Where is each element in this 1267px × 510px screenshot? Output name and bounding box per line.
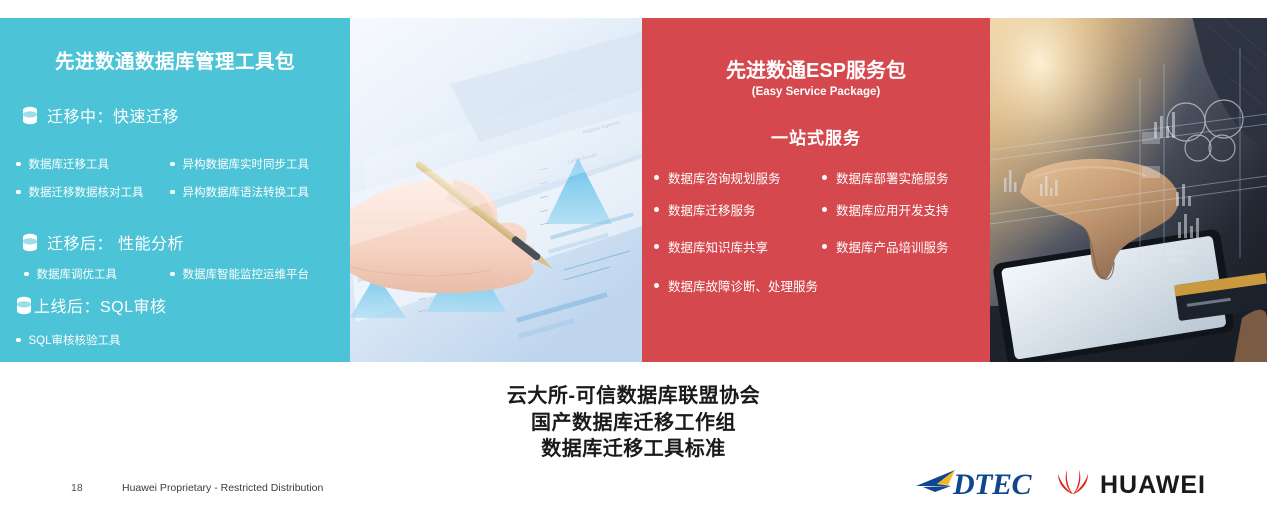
bullet-dot-icon (24, 272, 29, 277)
teal-bullet-item: 数据迁移数据核对工具 (16, 184, 144, 200)
red-panel-title: 先进数通ESP服务包 (642, 54, 990, 83)
dtec-logo: DTEC (915, 468, 1031, 501)
red-bullet-item: 数据库知识库共享 (654, 237, 768, 256)
teal-bullet-item: 异构数据库语法转换工具 (170, 184, 309, 200)
red-bullet-item: 数据库故障诊断、处理服务 (654, 276, 818, 295)
teal-bullet-item: 数据库调优工具 (24, 266, 117, 282)
right-photo-finger-on-tablet (990, 18, 1267, 362)
page-number: 18 (71, 482, 83, 494)
red-bullet-label: 数据库产品培训服务 (836, 237, 949, 256)
teal-section-heading-text: 迁移中：快速迁移 (47, 103, 179, 127)
red-bullet-label: 数据库应用开发支持 (836, 200, 949, 219)
bullet-dot-icon (170, 162, 175, 167)
database-icon (16, 296, 32, 315)
bullet-dot-icon (822, 207, 827, 212)
huawei-logo: HUAWEI (1055, 469, 1206, 502)
red-bullet-item: 数据库迁移服务 (654, 200, 756, 219)
footer-confidentiality-note: Huawei Proprietary - Restricted Distribu… (122, 482, 323, 494)
caption-block: 云大所-可信数据库联盟协会 国产数据库迁移工作组 数据库迁移工具标准 (0, 383, 1267, 463)
red-bullet-label: 数据库故障诊断、处理服务 (668, 276, 818, 295)
caption-line-1: 云大所-可信数据库联盟协会 (0, 383, 1267, 410)
teal-section-heading-after-golive: 上线后：SQL审核 (16, 293, 167, 317)
database-icon (22, 106, 38, 125)
red-bullet-item: 数据库产品培训服务 (822, 237, 949, 256)
caption-line-3: 数据库迁移工具标准 (0, 436, 1267, 463)
teal-bullet-item: 数据库迁移工具 (16, 156, 109, 172)
bullet-dot-icon (654, 283, 659, 288)
red-panel-section-heading: 一站式服务 (642, 124, 990, 149)
bullet-dot-icon (822, 244, 827, 249)
bullet-dot-icon (822, 175, 827, 180)
teal-bullet-item: 异构数据库实时同步工具 (170, 156, 309, 172)
red-service-panel: 先进数通ESP服务包 (Easy Service Package) 一站式服务 … (642, 18, 990, 362)
middle-photo-hand-writing-charts: Regional segments Central Europe West Eu… (350, 18, 642, 362)
red-panel-subtitle: (Easy Service Package) (642, 86, 990, 98)
bullet-dot-icon (16, 338, 21, 343)
teal-section-heading-text: 迁移后： 性能分析 (47, 230, 184, 254)
bullet-dot-icon (16, 162, 21, 167)
red-bullet-label: 数据库知识库共享 (668, 237, 768, 256)
bullet-dot-icon (654, 175, 659, 180)
huawei-flower-icon (1055, 469, 1091, 502)
huawei-wordmark: HUAWEI (1100, 473, 1206, 498)
teal-bullet-label: 数据库智能监控运维平台 (183, 266, 310, 282)
teal-bullet-item: SQL审核核验工具 (16, 332, 121, 348)
bullet-dot-icon (16, 190, 21, 195)
logo-row: DTEC HUAWEI (915, 468, 1205, 504)
teal-bullet-label: 异构数据库语法转换工具 (183, 184, 310, 200)
teal-section-heading-migrating: 迁移中：快速迁移 (22, 103, 179, 127)
teal-bullet-label: 数据库迁移工具 (29, 156, 110, 172)
teal-section-heading-text: 上线后：SQL审核 (34, 293, 167, 317)
red-bullet-item: 数据库应用开发支持 (822, 200, 949, 219)
bullet-dot-icon (654, 207, 659, 212)
teal-bullet-label: 数据迁移数据核对工具 (29, 184, 144, 200)
red-bullet-label: 数据库咨询规划服务 (668, 168, 781, 187)
teal-bullet-label: SQL审核核验工具 (29, 332, 121, 348)
teal-bullet-label: 数据库调优工具 (37, 266, 118, 282)
dtec-arrow-icon (915, 468, 957, 501)
bullet-dot-icon (170, 190, 175, 195)
red-bullet-label: 数据库部署实施服务 (836, 168, 949, 187)
teal-tools-panel: 先进数通数据库管理工具包 迁移中：快速迁移 数据库迁移工具 异构数据库实时同步工… (0, 18, 350, 362)
teal-section-heading-after-migration: 迁移后： 性能分析 (22, 230, 184, 254)
bullet-dot-icon (654, 244, 659, 249)
bullet-dot-icon (170, 272, 175, 277)
teal-panel-title: 先进数通数据库管理工具包 (0, 45, 350, 74)
red-bullet-item: 数据库咨询规划服务 (654, 168, 781, 187)
teal-bullet-label: 异构数据库实时同步工具 (183, 156, 310, 172)
database-icon (22, 233, 38, 252)
banner-strip: 先进数通数据库管理工具包 迁移中：快速迁移 数据库迁移工具 异构数据库实时同步工… (0, 18, 1267, 362)
dtec-wordmark: DTEC (953, 470, 1031, 500)
red-bullet-label: 数据库迁移服务 (668, 200, 756, 219)
red-bullet-item: 数据库部署实施服务 (822, 168, 949, 187)
caption-line-2: 国产数据库迁移工作组 (0, 410, 1267, 437)
teal-bullet-item: 数据库智能监控运维平台 (170, 266, 309, 282)
